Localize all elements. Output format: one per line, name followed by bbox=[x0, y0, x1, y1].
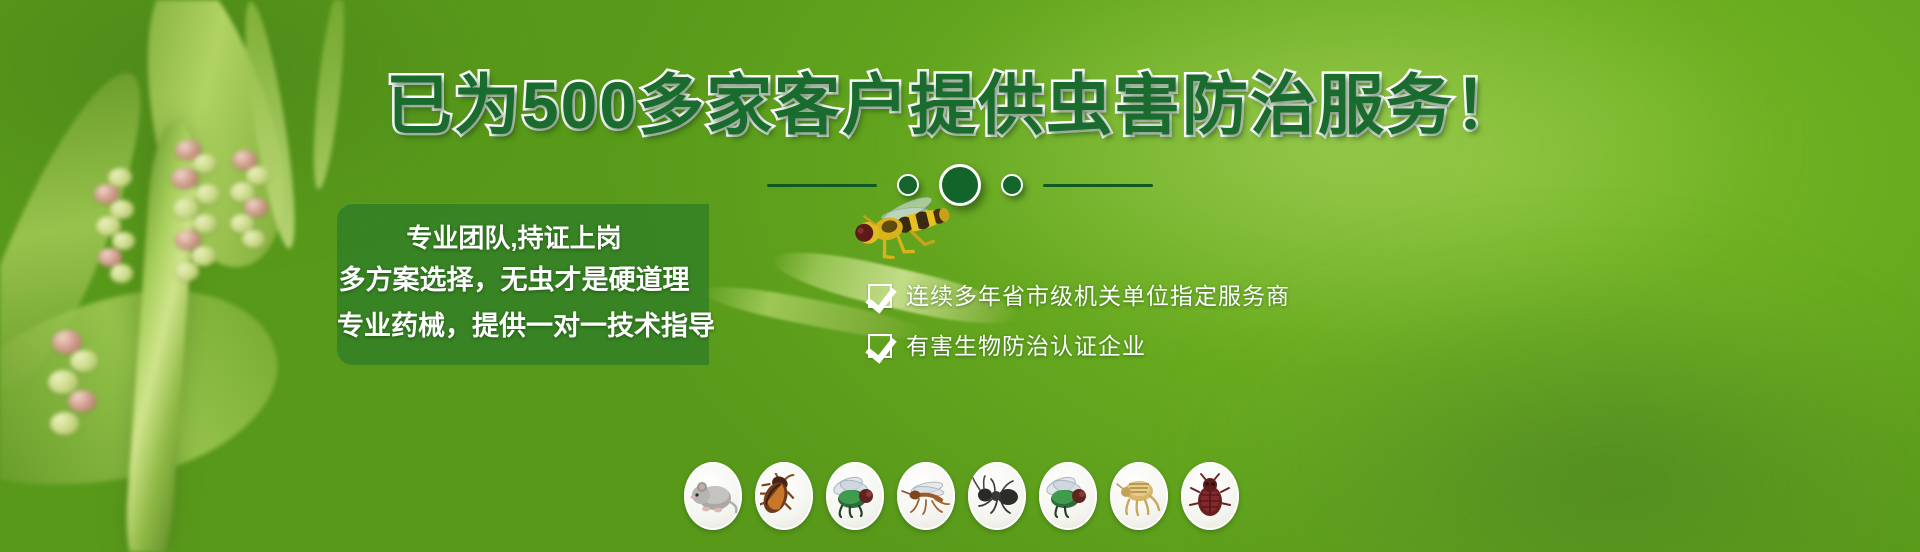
flea-icon bbox=[1115, 474, 1163, 518]
selling-point-line-2: 多方案选择，无虫才是硬道理 bbox=[337, 257, 691, 303]
housefly-icon bbox=[1043, 474, 1093, 518]
decorative-divider bbox=[0, 162, 1920, 208]
list-item: 连续多年省市级机关单位指定服务商 bbox=[868, 272, 1290, 320]
checkbox-checked-icon bbox=[868, 284, 892, 308]
cockroach-icon bbox=[760, 473, 808, 519]
promo-banner: 已为500多家客户提供虫害防治服务！ 专业团队,持证上岗 多方案选择，无虫才是硬… bbox=[0, 0, 1920, 552]
bullet-label: 有害生物防治认证企业 bbox=[906, 332, 1146, 360]
list-item: 有害生物防治认证企业 bbox=[868, 322, 1290, 370]
mouse-icon bbox=[688, 476, 738, 516]
divider-dot-small-left bbox=[897, 174, 919, 196]
bullet-label: 连续多年省市级机关单位指定服务商 bbox=[906, 282, 1290, 310]
blowfly-icon bbox=[830, 474, 880, 518]
bedbug-icon bbox=[1187, 473, 1233, 519]
ant-icon bbox=[972, 475, 1022, 517]
pest-icon-mosquito[interactable] bbox=[897, 462, 955, 530]
pest-icon-flea[interactable] bbox=[1110, 462, 1168, 530]
divider-line-right bbox=[1043, 184, 1153, 187]
page-title: 已为500多家客户提供虫害防治服务！ bbox=[0, 72, 1914, 138]
selling-point-line-1: 专业团队,持证上岗 bbox=[337, 219, 691, 257]
divider-dot-small-right bbox=[1001, 174, 1023, 196]
pest-icon-ant[interactable] bbox=[968, 462, 1026, 530]
pest-icon-cockroach[interactable] bbox=[755, 462, 813, 530]
selling-point-line-3: 专业药械，提供一对一技术指导 bbox=[337, 303, 691, 349]
background-shadow bbox=[1217, 273, 1920, 552]
checkbox-checked-icon bbox=[868, 334, 892, 358]
pest-icon-mouse[interactable] bbox=[684, 462, 742, 530]
pest-icon-bedbug[interactable] bbox=[1181, 462, 1239, 530]
pest-icon-row bbox=[684, 462, 1239, 530]
certification-bullets: 连续多年省市级机关单位指定服务商 有害生物防治认证企业 bbox=[868, 272, 1290, 370]
selling-points-panel: 专业团队,持证上岗 多方案选择，无虫才是硬道理 专业药械，提供一对一技术指导 bbox=[337, 203, 709, 365]
pest-icon-blowfly[interactable] bbox=[826, 462, 884, 530]
divider-line-left bbox=[767, 184, 877, 187]
pest-icon-housefly[interactable] bbox=[1039, 462, 1097, 530]
mosquito-icon bbox=[901, 474, 951, 518]
